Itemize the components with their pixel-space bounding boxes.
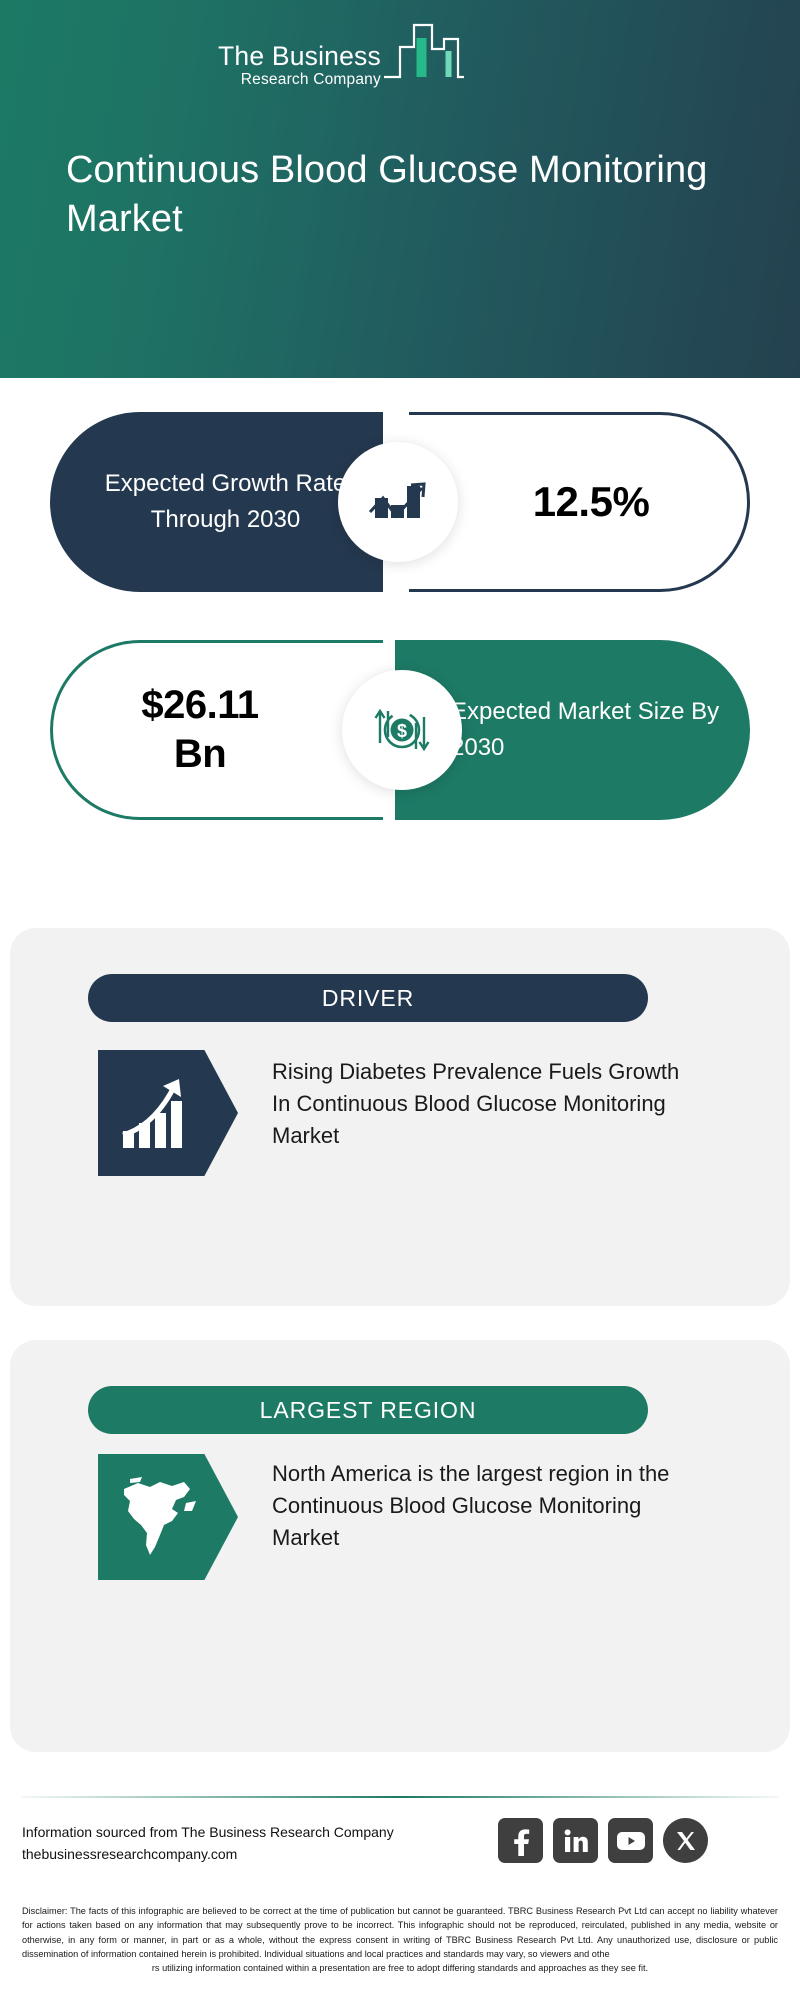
growth-chart-arrow-icon — [338, 442, 458, 562]
stat-1-value: 12.5% — [507, 478, 650, 526]
driver-body-text: Rising Diabetes Prevalence Fuels Growth … — [272, 1056, 692, 1152]
stat-card-market-size: $26.11 Bn $ Expected Market S — [0, 640, 800, 820]
youtube-icon[interactable] — [608, 1818, 653, 1863]
disclaimer-text: Disclaimer: The facts of this infographi… — [22, 1904, 778, 1975]
north-america-map-icon — [98, 1454, 238, 1580]
largest-region-body-text: North America is the largest region in t… — [272, 1458, 692, 1554]
largest-region-pill: LARGEST REGION — [88, 1386, 648, 1434]
largest-region-pill-label: LARGEST REGION — [260, 1397, 477, 1424]
driver-pill: DRIVER — [88, 974, 648, 1022]
bar-chart-logo-mark — [382, 21, 466, 94]
disclaimer-main: Disclaimer: The facts of this infographi… — [22, 1906, 778, 1959]
infographic-page: The Business Research Company Continuous… — [0, 0, 800, 2000]
svg-text:$: $ — [397, 721, 407, 741]
company-logo: The Business Research Company — [218, 26, 528, 98]
company-logo-line1: The Business — [218, 43, 381, 70]
header-banner: The Business Research Company Continuous… — [0, 0, 800, 378]
stat-2-value-panel: $26.11 Bn — [50, 640, 383, 820]
linkedin-icon[interactable] — [553, 1818, 598, 1863]
stat-1-label: Expected Growth Rate Through 2030 — [50, 466, 383, 539]
company-logo-line2: Research Company — [241, 72, 381, 88]
dollar-cycle-icon: $ — [342, 670, 462, 790]
stat-1-value-panel: 12.5% — [409, 412, 750, 592]
page-title: Continuous Blood Glucose Monitoring Mark… — [66, 146, 746, 245]
source-credit: Information sourced from The Business Re… — [22, 1822, 492, 1865]
social-links — [498, 1818, 708, 1863]
footer-divider — [22, 1796, 778, 1798]
disclaimer-last-line: rs utilizing information contained withi… — [22, 1961, 778, 1975]
driver-pill-label: DRIVER — [322, 985, 414, 1012]
stat-2-value: $26.11 Bn — [141, 681, 294, 779]
largest-region-section: LARGEST REGION North America is the larg… — [10, 1340, 790, 1752]
driver-section: DRIVER Rising Diabetes Prevalence Fuels … — [10, 928, 790, 1306]
stat-2-value-line2: Bn — [174, 732, 226, 776]
company-logo-text: The Business Research Company — [218, 43, 381, 98]
stat-card-growth-rate: Expected Growth Rate Through 2030 12.5% — [0, 412, 800, 592]
source-line-2[interactable]: thebusinessresearchcompany.com — [22, 1844, 492, 1866]
facebook-icon[interactable] — [498, 1818, 543, 1863]
source-line-1: Information sourced from The Business Re… — [22, 1822, 492, 1844]
x-twitter-icon[interactable] — [663, 1818, 708, 1863]
stat-1-label-panel: Expected Growth Rate Through 2030 — [50, 412, 383, 592]
upward-trend-bars-icon — [98, 1050, 238, 1176]
stat-2-value-line1: $26.11 — [141, 683, 258, 727]
